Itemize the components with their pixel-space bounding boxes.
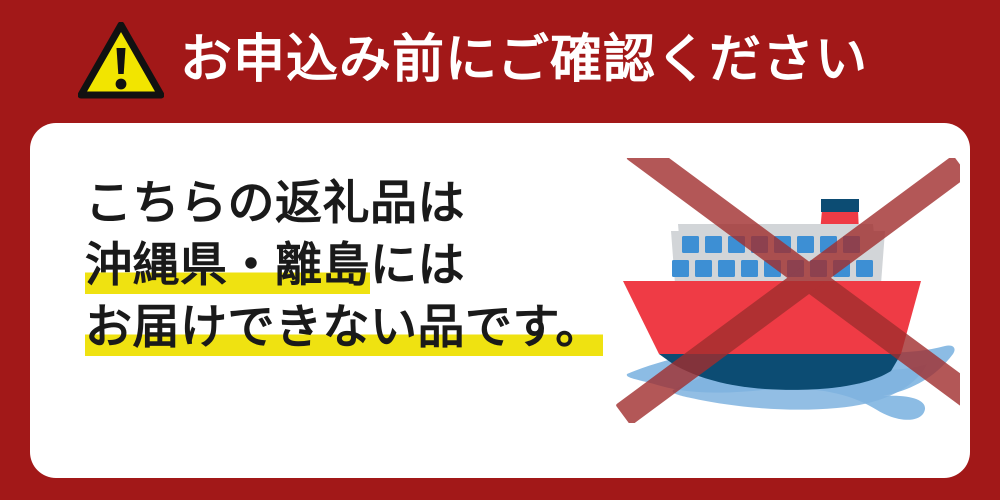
window (682, 236, 699, 253)
notice-line-2-tail-text: には (370, 238, 465, 293)
notice-line-2: 沖縄県・離島には (85, 235, 645, 297)
window (705, 236, 722, 253)
page-title: お申込み前にご確認ください (180, 34, 868, 86)
notice-line-2-highlighted-text: 沖縄県・離島 (85, 238, 370, 294)
notice-line-1: こちらの返礼品は (85, 173, 645, 235)
ferry-ship-illustration (615, 158, 960, 423)
notice-line-3: お届けできない品です。 (85, 297, 645, 359)
header-bar: お申込み前にご確認ください (0, 0, 1000, 120)
window (695, 260, 712, 277)
warning-triangle-icon (78, 22, 164, 100)
info-card: こちらの返礼品は 沖縄県・離島には お届けできない品です。 (30, 123, 970, 478)
notice-line-3-highlighted-text: お届けできない品です。 (85, 300, 603, 356)
funnel-cap (821, 199, 859, 212)
notice-line-1-text: こちらの返礼品は (85, 176, 465, 231)
window (856, 260, 873, 277)
window (718, 260, 735, 277)
notice-banner-image: お申込み前にご確認ください こちらの返礼品は 沖縄県・離島には お届けできない品… (0, 0, 1000, 500)
window (672, 260, 689, 277)
window (741, 260, 758, 277)
notice-text-block: こちらの返礼品は 沖縄県・離島には お届けできない品です。 (85, 173, 645, 359)
window (797, 236, 814, 253)
